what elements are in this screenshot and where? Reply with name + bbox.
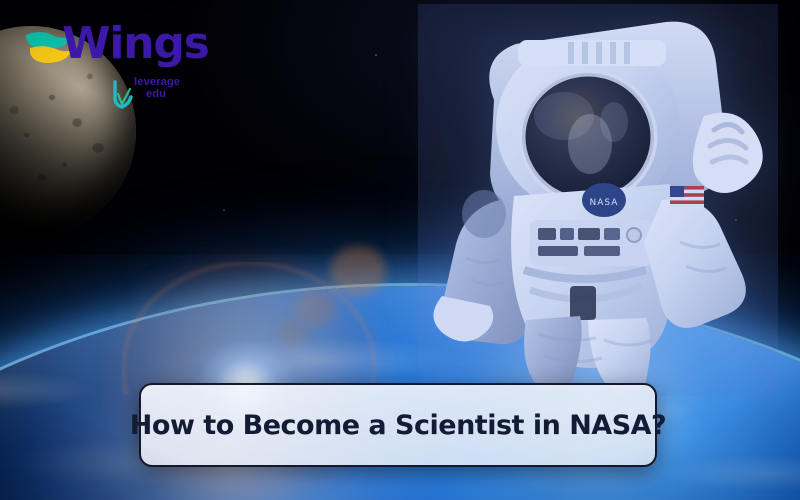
leverage-edu-sublogo: leverage edu bbox=[112, 76, 204, 112]
brand-logo[interactable]: Wings leverage edu bbox=[18, 24, 198, 116]
poster-canvas: NASA bbox=[0, 0, 800, 500]
leverage-check-icon bbox=[112, 80, 134, 110]
brand-name: Wings bbox=[62, 22, 209, 66]
suit-color-cast bbox=[418, 4, 778, 396]
sublogo-line-2: edu bbox=[146, 88, 180, 100]
logo-wordmark-row: Wings bbox=[18, 24, 198, 78]
page-title: How to Become a Scientist in NASA? bbox=[130, 410, 666, 441]
leverage-edu-text: leverage edu bbox=[134, 76, 180, 100]
title-card: How to Become a Scientist in NASA? bbox=[139, 383, 657, 467]
lens-flare-orb bbox=[330, 246, 386, 296]
astronaut-figure: NASA bbox=[418, 4, 778, 396]
lens-flare-orb bbox=[278, 318, 308, 346]
sublogo-line-1: leverage bbox=[134, 76, 180, 88]
